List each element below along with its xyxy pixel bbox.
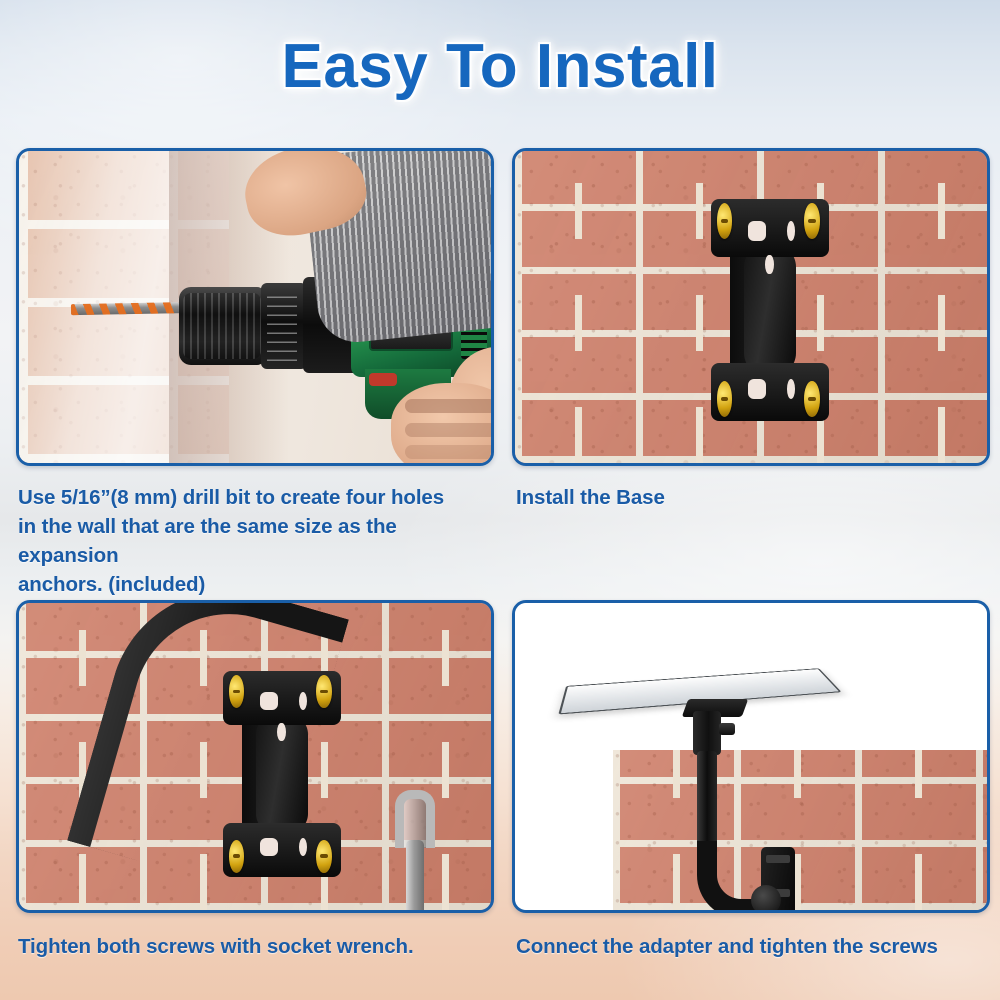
base-plate-body — [711, 199, 829, 421]
drill-scene — [19, 151, 491, 463]
step-caption-3: Tighten both screws with socket wrench. — [18, 932, 498, 961]
hex-screw-bottom-left — [717, 381, 732, 417]
base-plate-hole-top — [787, 221, 795, 241]
hex-screw-top-left — [717, 203, 732, 239]
hex-screw-bottom-left — [229, 840, 244, 873]
step-caption-2: Install the Base — [516, 483, 986, 512]
drill-torque-collar — [261, 283, 307, 369]
drill-trigger — [369, 373, 397, 386]
base-plate-hole-center — [277, 723, 285, 742]
base-plate-hole-bottom — [787, 379, 795, 399]
drill-chuck — [179, 287, 265, 365]
base-plate-slot-top — [260, 692, 279, 711]
hex-screw-bottom-right — [316, 840, 331, 873]
caption-line: Tighten both screws with socket wrench. — [18, 932, 498, 961]
caption-line: Connect the adapter and tighten the scre… — [516, 932, 994, 961]
caption-line: in the wall that are the same size as th… — [18, 512, 498, 570]
page-title: Easy To Install — [281, 36, 718, 98]
base-plate-hole-center — [765, 255, 773, 275]
caption-line: Use 5/16”(8 mm) drill bit to create four… — [18, 483, 498, 512]
hex-screw-top-right — [316, 675, 331, 708]
base-plate-slot-top — [748, 221, 767, 241]
wall-mount-base-plate — [711, 199, 829, 421]
caption-line: Install the Base — [516, 483, 986, 512]
base-plate-hole-bottom — [299, 838, 307, 857]
step-caption-1: Use 5/16”(8 mm) drill bit to create four… — [18, 483, 498, 599]
base-plate-hole-top — [299, 692, 307, 711]
hex-screw-top-right — [804, 203, 819, 239]
step-caption-4: Connect the adapter and tighten the scre… — [516, 932, 994, 961]
wrench-shaft — [406, 840, 424, 913]
step-image-panel-3 — [16, 600, 494, 913]
step-image-panel-1 — [16, 148, 494, 466]
pivot-joint — [751, 885, 781, 913]
page-title-container: Easy To Install — [0, 36, 1000, 98]
base-plate-body — [223, 671, 341, 877]
wall-mount-base-plate — [223, 671, 341, 877]
hand-gripping-drill — [391, 383, 494, 466]
hex-screw-bottom-right — [804, 381, 819, 417]
step-image-panel-2 — [512, 148, 990, 466]
adapter-collar — [693, 711, 721, 755]
brick-wall-corner — [613, 750, 987, 910]
caption-line: anchors. (included) — [18, 570, 498, 599]
step-image-panel-4 — [512, 600, 990, 913]
adapter-thumb-screw — [719, 723, 735, 735]
socket-wrench-icon — [395, 790, 435, 913]
brick-texture — [613, 750, 987, 910]
base-plate-slot-bottom — [748, 379, 767, 399]
base-plate-slot-bottom — [260, 838, 279, 857]
